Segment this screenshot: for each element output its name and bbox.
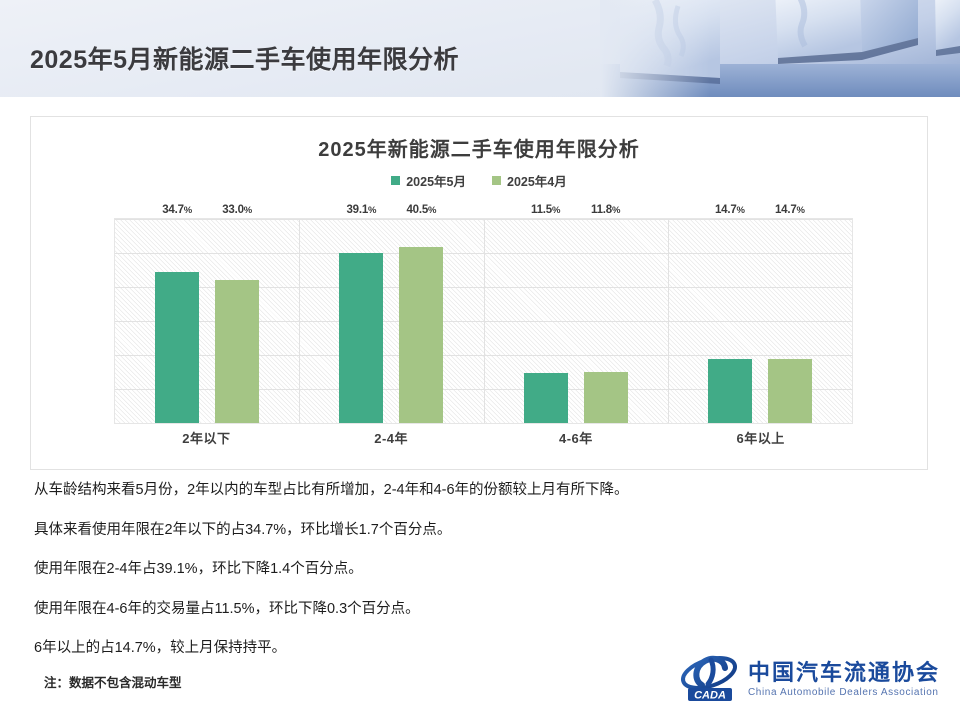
chart-legend: 2025年5月 2025年4月 <box>31 171 927 190</box>
bar-rect <box>155 272 199 423</box>
bar-value-label: 34.7% <box>162 204 192 216</box>
analysis-paragraph: 具体来看使用年限在2年以下的占34.7%，环比增长1.7个百分点。 <box>34 523 934 538</box>
analysis-paragraph: 使用年限在2-4年占39.1%，环比下降1.4个百分点。 <box>34 562 934 577</box>
page-title: 2025年5月新能源二手车使用年限分析 <box>30 40 459 76</box>
bar-rect <box>215 280 259 423</box>
bar-rect <box>524 373 568 423</box>
bar-rect <box>399 247 443 423</box>
bar-value-label: 14.7% <box>715 204 745 216</box>
x-tick-label: 4-6年 <box>484 428 669 447</box>
chart-title: 2025年新能源二手车使用年限分析 <box>31 133 927 162</box>
x-tick-label: 2年以下 <box>114 428 299 447</box>
bar-series-2-cat-1[interactable]: 40.5% <box>399 219 443 423</box>
chart-plot-area: 34.7% 33.0% 39.1% 40.5% <box>114 218 853 424</box>
bar-series-1-cat-2[interactable]: 11.5% <box>524 219 568 423</box>
svg-text:CADA: CADA <box>694 690 726 702</box>
footnote: 注：数据不包含混动车型 <box>44 672 182 691</box>
bar-group-0: 34.7% 33.0% <box>115 219 299 423</box>
bar-series-1-cat-3[interactable]: 14.7% <box>708 219 752 423</box>
legend-label: 2025年5月 <box>406 171 466 190</box>
bar-series-1-cat-0[interactable]: 34.7% <box>155 219 199 423</box>
bar-value-label: 11.8% <box>591 204 620 216</box>
legend-item-series-2[interactable]: 2025年4月 <box>492 171 567 190</box>
page-header: 2025年5月新能源二手车使用年限分析 <box>0 0 960 97</box>
bar-value-label: 11.5% <box>531 204 560 216</box>
analysis-paragraph: 使用年限在4-6年的交易量占11.5%，环比下降0.3个百分点。 <box>34 602 934 617</box>
x-tick-label: 6年以上 <box>668 428 853 447</box>
cada-swirl-logo-icon: CADA <box>678 651 740 708</box>
bar-series-2-cat-2[interactable]: 11.8% <box>584 219 628 423</box>
bar-rect <box>339 253 383 423</box>
bar-value-label: 33.0% <box>222 204 252 216</box>
3d-cubes-globe-graphic <box>600 0 960 97</box>
chart-card: 2025年新能源二手车使用年限分析 2025年5月 2025年4月 34.7 <box>30 116 928 470</box>
legend-swatch-icon <box>391 176 400 185</box>
bar-series-2-cat-0[interactable]: 33.0% <box>215 219 259 423</box>
legend-item-series-1[interactable]: 2025年5月 <box>391 171 466 190</box>
bar-group-2: 11.5% 11.8% <box>484 219 668 423</box>
bar-group-3: 14.7% 14.7% <box>668 219 852 423</box>
x-tick-label: 2-4年 <box>299 428 484 447</box>
legend-label: 2025年4月 <box>507 171 567 190</box>
bar-series-2-cat-3[interactable]: 14.7% <box>768 219 812 423</box>
analysis-paragraph: 从车龄结构来看5月份，2年以内的车型占比有所增加，2-4年和4-6年的份额较上月… <box>34 483 934 498</box>
cada-logo: CADA 中国汽车流通协会 China Automobile Dealers A… <box>678 651 940 708</box>
org-name-cn: 中国汽车流通协会 <box>748 662 940 684</box>
bar-group-1: 39.1% 40.5% <box>299 219 483 423</box>
bar-value-label: 40.5% <box>406 204 436 216</box>
bar-rect <box>584 372 628 423</box>
chart-bars-layer: 34.7% 33.0% 39.1% 40.5% <box>115 219 852 423</box>
bar-value-label: 14.7% <box>775 204 805 216</box>
bar-rect <box>768 359 812 423</box>
chart-x-axis: 2年以下 2-4年 4-6年 6年以上 <box>114 428 853 447</box>
org-name-en: China Automobile Dealers Association <box>748 688 940 698</box>
legend-swatch-icon <box>492 176 501 185</box>
bar-series-1-cat-1[interactable]: 39.1% <box>339 219 383 423</box>
bar-rect <box>708 359 752 423</box>
bar-value-label: 39.1% <box>346 204 376 216</box>
